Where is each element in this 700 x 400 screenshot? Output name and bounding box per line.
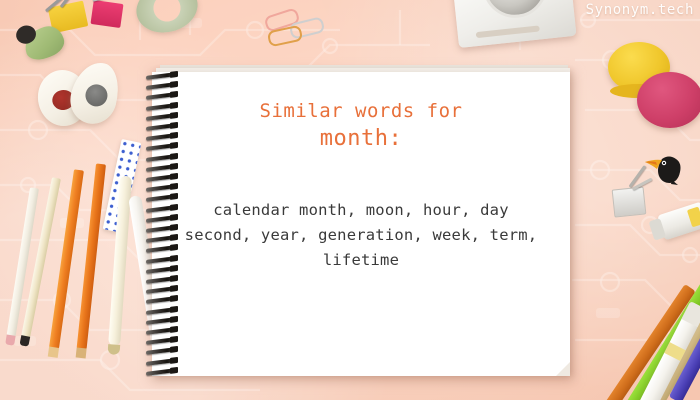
pen-tip — [5, 334, 15, 345]
binder-clip-body — [612, 186, 647, 217]
page-content: Similar words for month: calendar month,… — [152, 72, 570, 376]
glue-tube-band — [687, 207, 700, 228]
pencil-tip — [76, 347, 87, 358]
page-headword: month: — [320, 124, 402, 154]
eraser-stone-center — [83, 82, 110, 109]
camera-strip — [476, 25, 540, 38]
synonyms-list: calendar month, moon, hour, day second, … — [176, 198, 546, 273]
page-title-line1: Similar words for — [260, 98, 463, 124]
binder-clip-body — [90, 0, 123, 28]
binder-clip-pink — [90, 0, 123, 28]
macaron-pink — [637, 72, 700, 128]
binder-clip-silver — [612, 186, 647, 217]
camera-lens-icon — [480, 0, 550, 21]
pencil-tip — [48, 347, 59, 358]
site-watermark: Synonym.tech — [586, 2, 694, 18]
screenshot-stage: Similar words for month: calendar month,… — [0, 0, 700, 400]
